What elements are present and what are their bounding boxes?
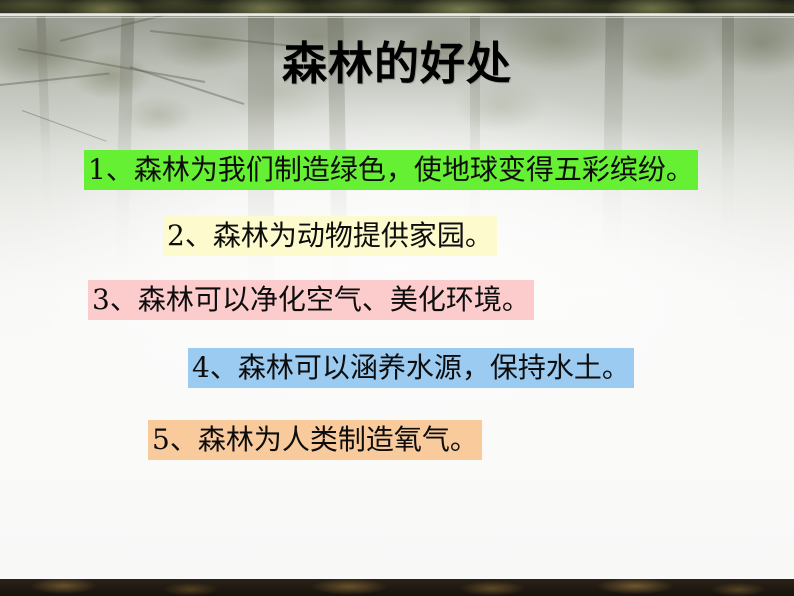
bullet-line-2: 2、森林为动物提供家园。: [163, 216, 497, 256]
slide-title: 森林的好处: [0, 36, 794, 92]
top-divider-rule-secondary: [0, 17, 794, 18]
top-divider-rule: [0, 13, 794, 16]
presentation-slide: 森林的好处 1、森林为我们制造绿色，使地球变得五彩缤纷。 2、森林为动物提供家园…: [0, 0, 794, 596]
bullet-line-1: 1、森林为我们制造绿色，使地球变得五彩缤纷。: [84, 150, 698, 190]
bullet-line-4: 4、森林可以涵养水源，保持水土。: [188, 348, 634, 388]
forest-floor-band: [0, 579, 794, 596]
bullet-line-3: 3、森林可以净化空气、美化环境。: [88, 280, 534, 320]
bullet-line-5: 5、森林为人类制造氧气。: [148, 420, 482, 460]
